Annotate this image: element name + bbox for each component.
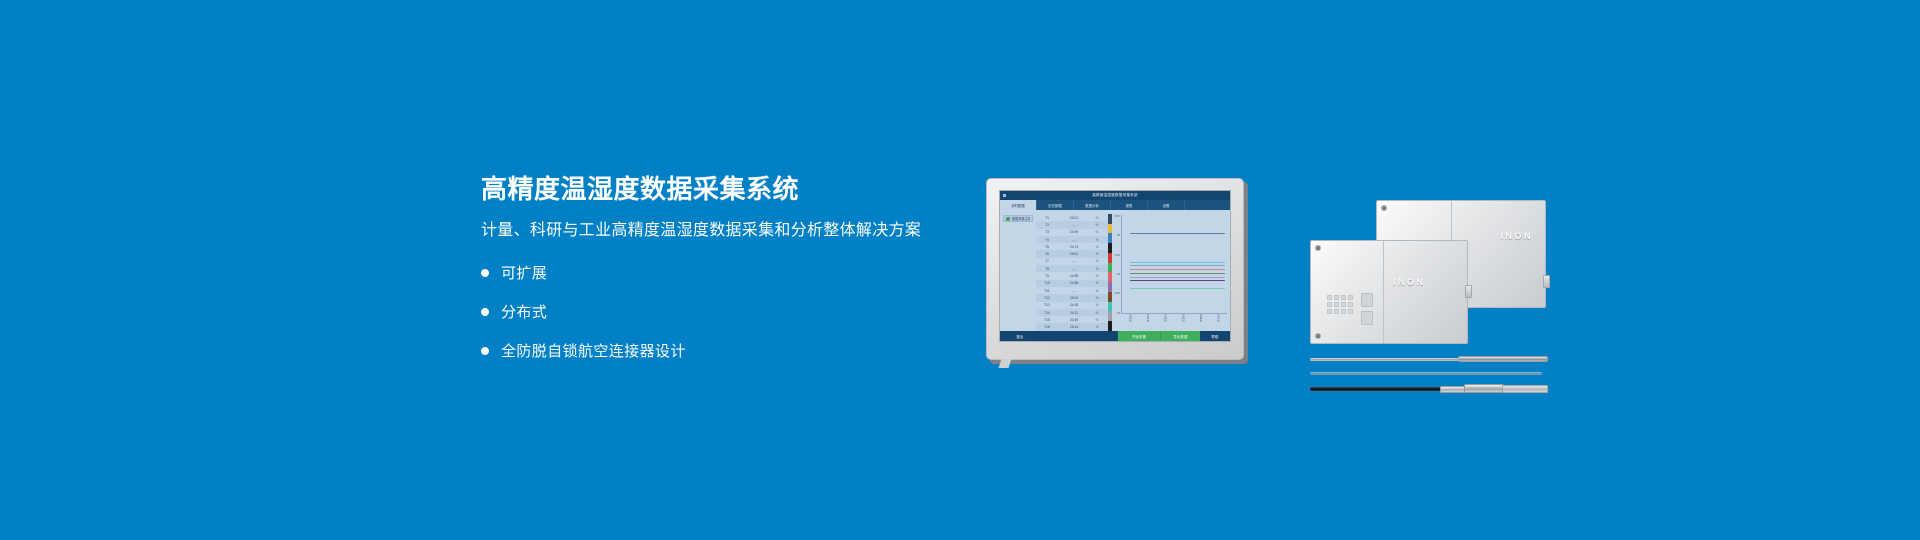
terminal-cell: [1327, 302, 1332, 307]
channel-name: T5: [1036, 245, 1058, 249]
y-axis-tick: 24: [1117, 272, 1120, 276]
software-titlebar: 高精度温湿度数据采集系统: [1000, 191, 1230, 200]
channel-unit: ℃: [1090, 245, 1104, 249]
channel-unit: ℃: [1090, 289, 1104, 293]
channel-unit: ℃: [1090, 318, 1104, 322]
tab-report[interactable]: 报表: [1111, 200, 1148, 210]
channel-unit: ℃: [1090, 281, 1104, 285]
table-row[interactable]: T1024.88℃: [1036, 280, 1108, 287]
channel-value: 25.01: [1058, 216, 1090, 220]
y-axis-tick: 25.5: [1115, 214, 1120, 218]
list-item: 全防脱自锁航空连接器设计: [481, 336, 951, 366]
channel-table: T125.01℃T2---℃T324.99℃T4---℃T524.73℃T625…: [1036, 210, 1108, 331]
bullet-dot-icon: [481, 347, 489, 355]
table-row[interactable]: T8---℃: [1036, 265, 1108, 272]
io-port: [1361, 293, 1373, 307]
tree-node-host[interactable]: 数据采集主机: [1003, 215, 1033, 222]
help-button[interactable]: 帮助: [1200, 331, 1230, 342]
monitor-bezel: 高精度温湿度数据采集系统 实时数据 历史数据 数据分析: [986, 178, 1244, 360]
table-row[interactable]: T11---℃: [1036, 287, 1108, 294]
aviation-connector: [1465, 285, 1472, 298]
hero-copy-block: 高精度温湿度数据采集系统 计量、科研与工业高精度温湿度数据采集和分析整体解决方案…: [481, 175, 951, 375]
y-axis-tick: 23.5: [1115, 291, 1120, 295]
channel-value: ---: [1058, 238, 1090, 242]
enclosure-group: INON INON: [1310, 200, 1550, 352]
table-row[interactable]: T524.73℃: [1036, 243, 1108, 250]
monitor-display: 高精度温湿度数据采集系统 实时数据 历史数据 数据分析: [999, 190, 1231, 342]
y-axis-tick: 25: [1117, 233, 1120, 237]
software-screen: 高精度温湿度数据采集系统 实时数据 历史数据 数据分析: [1000, 191, 1230, 341]
table-row[interactable]: T1225.04℃: [1036, 294, 1108, 301]
channel-unit: ℃: [1090, 311, 1104, 315]
connector-end: [1502, 385, 1548, 393]
terminal-cell: [1334, 309, 1339, 314]
channel-unit: ℃: [1090, 216, 1104, 220]
chart-y-axis: 25.52524.52423.523: [1112, 214, 1120, 315]
channel-value: 24.11: [1058, 311, 1090, 315]
table-row[interactable]: T2---℃: [1036, 221, 1108, 228]
channel-name: T2: [1036, 223, 1058, 227]
channel-value: ---: [1058, 289, 1090, 293]
channel-unit: ℃: [1090, 296, 1104, 300]
x-axis-tick: 14:36:11: [1199, 314, 1202, 327]
channel-unit: ℃: [1090, 230, 1104, 234]
channel-value: ---: [1058, 267, 1090, 271]
probe-tip: [1458, 356, 1548, 362]
x-axis-tick: 14:20:11: [1128, 314, 1131, 327]
probe-shaft: [1310, 358, 1460, 361]
software-tabbar: 实时数据 历史数据 数据分析 报表: [1000, 200, 1230, 210]
feature-list: 可扩展 分布式 全防脱自锁航空连接器设计: [481, 258, 951, 366]
feature-label: 分布式: [501, 301, 547, 322]
terminal-block-grid: [1327, 295, 1353, 314]
channel-name: T11: [1036, 289, 1058, 293]
chart-series-line: [1130, 265, 1225, 266]
hero-banner: 高精度温湿度数据采集系统 计量、科研与工业高精度温湿度数据采集和分析整体解决方案…: [0, 0, 1920, 540]
channel-name: T1: [1036, 216, 1058, 220]
channel-value: 24.28: [1058, 303, 1090, 307]
channel-name: T7: [1036, 259, 1058, 263]
tab-label: 实时数据: [1011, 203, 1025, 208]
button-label: 退出: [1016, 334, 1023, 339]
x-axis-tick: 14:28:11: [1164, 314, 1167, 327]
terminal-cell: [1327, 309, 1332, 314]
terminal-cell: [1334, 295, 1339, 300]
channel-unit: ℃: [1090, 223, 1104, 227]
tab-settings[interactable]: 设置: [1148, 200, 1185, 210]
screw-icon: [1381, 205, 1387, 211]
chart-series-line: [1130, 269, 1225, 270]
x-axis-tick: 14:32:11: [1181, 314, 1184, 327]
probe-cable: [1310, 387, 1445, 391]
export-data-button[interactable]: 导出数据: [1160, 331, 1200, 342]
channel-unit: ℃: [1090, 303, 1104, 307]
tab-realtime[interactable]: 实时数据: [1000, 200, 1037, 210]
screw-icon: [1315, 333, 1321, 339]
channel-value: 25.14: [1058, 325, 1090, 329]
stainless-temperature-probe: [1310, 356, 1548, 362]
channel-value: ---: [1058, 223, 1090, 227]
trend-chart: 25.52524.52423.523 14:20:1114:24:1114:28…: [1112, 210, 1230, 331]
table-row[interactable]: T324.99℃: [1036, 229, 1108, 236]
channel-unit: ℃: [1090, 267, 1104, 271]
exit-button[interactable]: 退出: [1000, 331, 1040, 342]
hero-subtitle: 计量、科研与工业高精度温湿度数据采集和分析整体解决方案: [481, 221, 951, 240]
channel-value: 24.98: [1058, 274, 1090, 278]
x-axis-tick: 14:24:11: [1146, 314, 1149, 327]
thin-wire-sensor: [1310, 372, 1542, 375]
monitor-stand-foot: [999, 359, 1012, 368]
chart-series-line: [1130, 280, 1225, 281]
list-item: 分布式: [481, 297, 951, 327]
screw-icon: [1315, 245, 1321, 251]
device-tree-panel: 数据采集主机: [1000, 210, 1036, 331]
footer-spacer: [1040, 331, 1118, 342]
aviation-connector: [1543, 275, 1550, 288]
channel-name: T15: [1036, 318, 1058, 322]
terminal-cell: [1327, 295, 1332, 300]
tab-label: 设置: [1163, 203, 1170, 208]
table-row[interactable]: T625.61℃: [1036, 250, 1108, 257]
table-row[interactable]: T4---℃: [1036, 236, 1108, 243]
cable-ferrule: [1440, 386, 1466, 393]
software-title: 高精度温湿度数据采集系统: [1000, 193, 1230, 198]
button-label: 开始采集: [1132, 334, 1146, 339]
table-row[interactable]: T1424.11℃: [1036, 309, 1108, 316]
table-row[interactable]: T924.98℃: [1036, 272, 1108, 279]
y-axis-tick: 24.5: [1115, 253, 1120, 257]
brand-logo: INON: [1501, 231, 1534, 241]
terminal-cell: [1348, 302, 1353, 307]
x-axis-tick: 14:40:11: [1217, 314, 1220, 327]
list-item: 可扩展: [481, 258, 951, 288]
channel-value: 24.88: [1058, 281, 1090, 285]
channel-value: 24.99: [1058, 230, 1090, 234]
terminal-cell: [1341, 295, 1346, 300]
page-title: 高精度温湿度数据采集系统: [481, 175, 951, 204]
terminal-cell: [1348, 309, 1353, 314]
button-label: 帮助: [1211, 334, 1218, 339]
start-acquisition-button[interactable]: 开始采集: [1118, 331, 1160, 342]
bullet-dot-icon: [481, 269, 489, 277]
channel-unit: ℃: [1090, 259, 1104, 263]
channel-value: ---: [1058, 259, 1090, 263]
tree-node-label: 数据采集主机: [1012, 216, 1030, 221]
io-port: [1361, 311, 1373, 325]
channel-unit: ℃: [1090, 274, 1104, 278]
channel-name: T4: [1036, 238, 1058, 242]
chart-series-line: [1130, 288, 1225, 289]
channel-value: 25.61: [1058, 252, 1090, 256]
feature-label: 可扩展: [501, 262, 547, 283]
tab-history[interactable]: 历史数据: [1037, 200, 1074, 210]
product-image-group: 高精度温湿度数据采集系统 实时数据 历史数据 数据分析: [960, 160, 1560, 380]
channel-name: T6: [1036, 252, 1058, 256]
channel-unit: ℃: [1090, 252, 1104, 256]
terminal-cell: [1341, 302, 1346, 307]
chart-series-line: [1130, 262, 1225, 263]
channel-value: 24.73: [1058, 245, 1090, 249]
bullet-dot-icon: [481, 308, 489, 316]
terminal-cell: [1341, 309, 1346, 314]
table-row[interactable]: T125.01℃: [1036, 214, 1108, 221]
channel-value: 25.04: [1058, 296, 1090, 300]
channel-name: T14: [1036, 311, 1058, 315]
panel-monitor: 高精度温湿度数据采集系统 实时数据 历史数据 数据分析: [986, 178, 1248, 364]
table-row[interactable]: T1524.90℃: [1036, 316, 1108, 323]
feature-label: 全防脱自锁航空连接器设计: [501, 340, 686, 361]
data-logger-enclosure-front: INON: [1310, 240, 1468, 344]
table-row[interactable]: T7---℃: [1036, 258, 1108, 265]
channel-name: T12: [1036, 296, 1058, 300]
table-row[interactable]: T1625.14℃: [1036, 323, 1108, 330]
table-row[interactable]: T1324.28℃: [1036, 302, 1108, 309]
chart-series-line: [1130, 277, 1225, 278]
terminal-cell: [1334, 302, 1339, 307]
tab-label: 数据分析: [1085, 203, 1099, 208]
chart-x-axis: 14:20:1114:24:1114:28:1114:32:1114:36:11…: [1121, 314, 1227, 327]
tab-analysis[interactable]: 数据分析: [1074, 200, 1111, 210]
software-body: 数据采集主机 T125.01℃T2---℃T324.99℃T4---℃T524.…: [1000, 210, 1230, 331]
chart-series-line: [1130, 273, 1225, 274]
sensor-wire: [1310, 372, 1542, 375]
channel-unit: ℃: [1090, 238, 1104, 242]
probe-group: [1310, 356, 1550, 396]
channel-name: T9: [1036, 274, 1058, 278]
chart-series-line: [1130, 233, 1225, 234]
brand-logo: INON: [1393, 277, 1426, 287]
panel-seam: [1383, 241, 1384, 343]
connector-body: [1464, 384, 1504, 393]
cabled-connector-probe: [1310, 384, 1548, 393]
y-axis-tick: 23: [1117, 311, 1120, 315]
channel-name: T3: [1036, 230, 1058, 234]
channel-name: T16: [1036, 325, 1058, 329]
channel-unit: ℃: [1090, 325, 1104, 329]
software-footer: 退出 开始采集 导出数据 帮助: [1000, 331, 1230, 342]
channel-name: T10: [1036, 281, 1058, 285]
status-online-icon: [1006, 217, 1010, 221]
tab-label: 报表: [1126, 203, 1133, 208]
channel-value: 24.90: [1058, 318, 1090, 322]
button-label: 导出数据: [1173, 334, 1187, 339]
tab-label: 历史数据: [1048, 203, 1062, 208]
channel-name: T8: [1036, 267, 1058, 271]
terminal-cell: [1348, 295, 1353, 300]
chart-plot-area: [1121, 215, 1227, 314]
channel-name: T13: [1036, 303, 1058, 307]
